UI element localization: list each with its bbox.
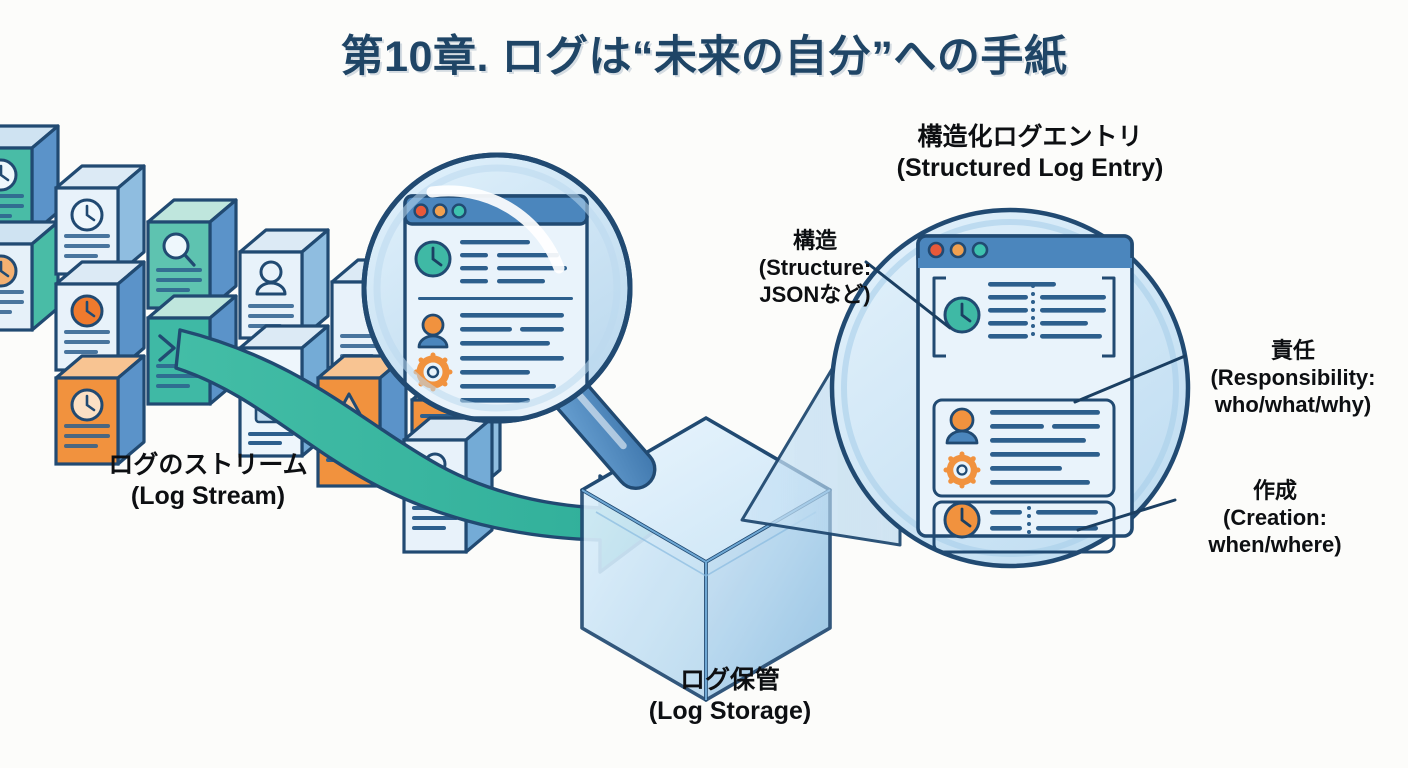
page-title: 第10章. ログは“未来の自分”への手紙 (0, 22, 1408, 84)
magnifier-content (405, 196, 587, 418)
label-log-stream-jp: ログのストリーム (78, 450, 338, 481)
label-log-stream-en: (Log Stream) (78, 481, 338, 512)
label-responsibility-jp: 責任 (1178, 338, 1408, 365)
label-structure-en1: (Structure: (720, 255, 910, 282)
log-block (240, 230, 328, 338)
log-entry-window (918, 236, 1132, 552)
teal-dot (973, 243, 987, 257)
label-log-stream: ログのストリーム (Log Stream) (78, 450, 338, 511)
log-block (148, 200, 236, 308)
label-structured-log-entry: 構造化ログエントリ (Structured Log Entry) (855, 122, 1205, 183)
red-dot (929, 243, 943, 257)
label-log-storage-jp: ログ保管 (580, 665, 880, 696)
diagram-canvas: 第10章. ログは“未来の自分”への手紙 ログのストリーム (Log Strea… (0, 0, 1408, 768)
label-responsibility-en2: who/what/why) (1178, 392, 1408, 419)
amber-dot (951, 243, 965, 257)
label-structure-jp: 構造 (720, 228, 910, 255)
label-creation-en1: (Creation: (1160, 505, 1390, 532)
label-responsibility: 責任 (Responsibility: who/what/why) (1178, 338, 1408, 418)
label-structured-log-entry-jp: 構造化ログエントリ (855, 122, 1205, 153)
log-block (56, 356, 144, 464)
gear-icon (946, 454, 978, 486)
log-block (0, 222, 58, 330)
label-creation-en2: when/where) (1160, 532, 1390, 559)
log-block (0, 126, 58, 234)
log-block (56, 166, 144, 274)
label-structured-log-entry-en: (Structured Log Entry) (855, 153, 1205, 184)
label-responsibility-en1: (Responsibility: (1178, 365, 1408, 392)
label-creation-jp: 作成 (1160, 478, 1390, 505)
label-creation: 作成 (Creation: when/where) (1160, 478, 1390, 558)
label-structure-en2: JSONなど) (720, 282, 910, 309)
log-block (56, 262, 144, 370)
label-log-storage: ログ保管 (Log Storage) (580, 665, 880, 726)
label-log-storage-en: (Log Storage) (580, 696, 880, 727)
label-structure: 構造 (Structure: JSONなど) (720, 228, 910, 308)
